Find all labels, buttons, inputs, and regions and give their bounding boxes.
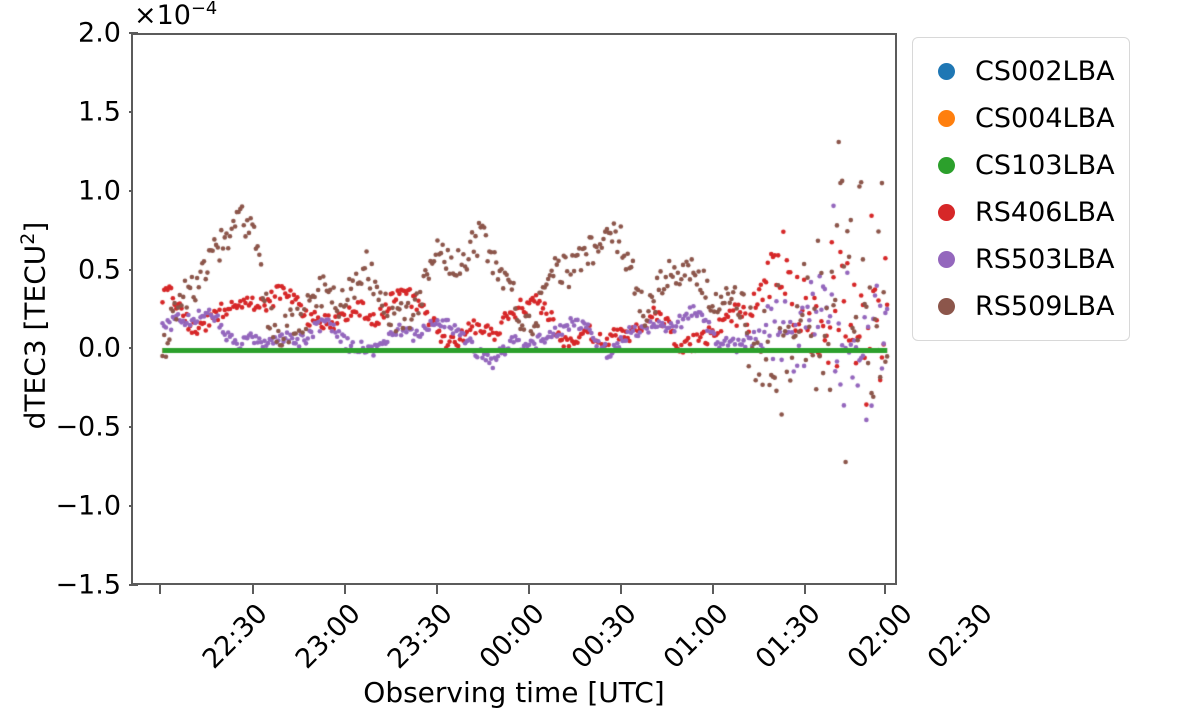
y-axis-tick-label: 1.5 — [11, 96, 121, 127]
legend-item-cs002lba[interactable]: CS002LBA — [925, 48, 1115, 95]
x-axis-tick-label: 00:30 — [565, 598, 642, 675]
scatter-plot-canvas — [133, 35, 897, 585]
legend-item-label: RS406LBA — [975, 197, 1114, 228]
y-axis-tick-label: −1.0 — [11, 491, 121, 522]
x-axis-tick-mark — [712, 585, 714, 594]
y-axis-offset-exponent: ×10−4 — [134, 2, 217, 29]
legend-item-rs406lba[interactable]: RS406LBA — [925, 189, 1115, 236]
x-axis-tick-mark — [344, 585, 346, 594]
plot-axes — [131, 33, 897, 585]
legend-marker-icon — [938, 157, 955, 174]
legend-marker-icon — [938, 110, 955, 127]
x-axis-tick-label: 02:30 — [922, 598, 999, 675]
legend-item-label: CS004LBA — [975, 103, 1115, 134]
legend-item-cs103lba[interactable]: CS103LBA — [925, 142, 1115, 189]
x-axis-tick-mark — [252, 585, 254, 594]
x-axis-tick-mark — [159, 585, 161, 594]
x-axis-tick-mark — [436, 585, 438, 594]
y-axis-tick-label: 2.0 — [11, 18, 121, 49]
legend-marker-icon — [938, 63, 955, 80]
legend-marker-icon — [938, 251, 955, 268]
figure-canvas: ×10−4 2.01.51.00.50.0−0.5−1.0−1.5 dTEC3 … — [0, 0, 1200, 719]
x-axis-label: Observing time [UTC] — [131, 676, 897, 709]
x-axis-tick-mark — [804, 585, 806, 594]
legend-item-label: CS002LBA — [975, 56, 1115, 87]
legend-item-rs509lba[interactable]: RS509LBA — [925, 283, 1115, 330]
legend-item-label: RS503LBA — [975, 244, 1114, 275]
x-axis-tick-label: 01:00 — [657, 598, 734, 675]
x-axis-tick-label: 23:00 — [289, 598, 366, 675]
x-axis-tick-label: 01:30 — [750, 598, 827, 675]
y-axis-tick-label: −1.5 — [11, 570, 121, 601]
legend-marker-icon — [938, 204, 955, 221]
legend-item-label: CS103LBA — [975, 150, 1115, 181]
x-axis-tick-mark — [620, 585, 622, 594]
x-axis-tick-mark — [884, 585, 886, 594]
legend-item-cs004lba[interactable]: CS004LBA — [925, 95, 1115, 142]
x-axis-tick-label: 02:00 — [842, 598, 919, 675]
legend-marker-icon — [938, 298, 955, 315]
x-axis-tick-label: 23:30 — [381, 598, 458, 675]
y-axis-label: dTEC3 [TECU2] — [19, 176, 52, 476]
x-axis-tick-label: 00:00 — [473, 598, 550, 675]
legend-item-label: RS509LBA — [975, 291, 1114, 322]
legend-item-rs503lba[interactable]: RS503LBA — [925, 236, 1115, 283]
legend-box: CS002LBACS004LBACS103LBARS406LBARS503LBA… — [912, 37, 1130, 341]
x-axis-tick-label: 22:30 — [197, 598, 274, 675]
x-axis-tick-mark — [528, 585, 530, 594]
